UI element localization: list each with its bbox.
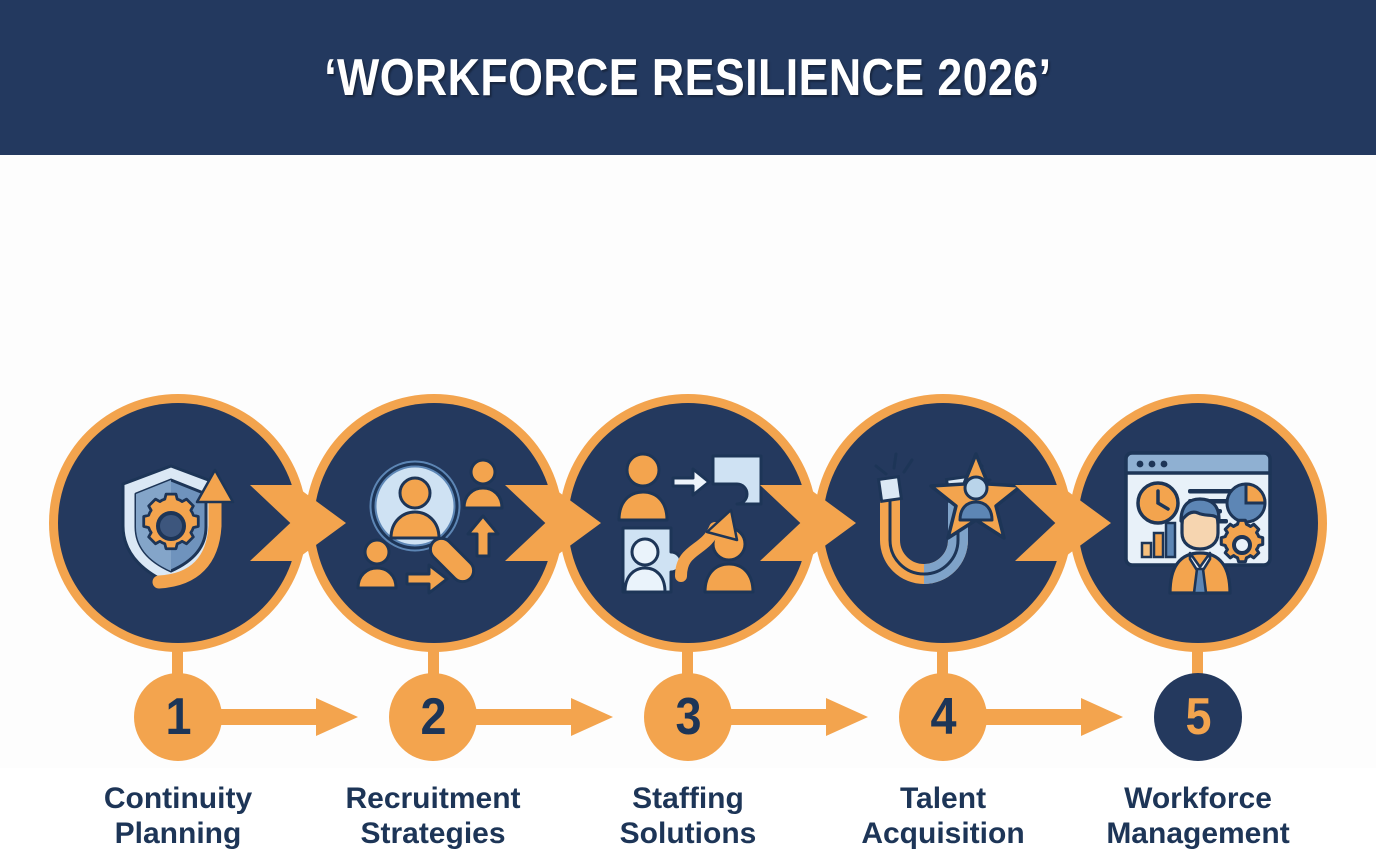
step-node-5[interactable] bbox=[1078, 403, 1318, 643]
arrow-shaft bbox=[206, 709, 326, 725]
step-number-badge-2[interactable]: 2 bbox=[389, 673, 477, 761]
step-number-1: 1 bbox=[165, 691, 191, 743]
arrow-shaft bbox=[716, 709, 836, 725]
step-number-5: 5 bbox=[1185, 691, 1211, 743]
step-number-3: 3 bbox=[675, 691, 701, 743]
number-arrow-4-5 bbox=[971, 698, 1123, 736]
dashboard-analytics-person-icon bbox=[1078, 403, 1318, 643]
number-arrow-3-4 bbox=[716, 698, 868, 736]
arrow-head bbox=[316, 698, 358, 736]
arrow-head bbox=[826, 698, 868, 736]
page-title: ‘WORKFORCE RESILIENCE 2026’ bbox=[324, 48, 1051, 108]
process-flow: 1 2 3 4 5 Continuity Planning Recruitmen… bbox=[0, 155, 1376, 768]
infographic-page: ‘WORKFORCE RESILIENCE 2026’ bbox=[0, 0, 1376, 768]
arrow-head bbox=[1081, 698, 1123, 736]
step-label-5: Workforce Management bbox=[1048, 781, 1348, 851]
step-node-2[interactable] bbox=[314, 403, 554, 643]
puzzle-people-match-icon bbox=[568, 403, 808, 643]
magnet-star-person-icon bbox=[823, 403, 1063, 643]
number-arrow-2-3 bbox=[461, 698, 613, 736]
step-number-badge-5[interactable]: 5 bbox=[1154, 673, 1242, 761]
step-node-1[interactable] bbox=[58, 403, 298, 643]
arrow-shaft bbox=[461, 709, 581, 725]
step-label-5-line1: Workforce bbox=[1048, 781, 1348, 816]
step-label-5-line2: Management bbox=[1048, 816, 1348, 851]
arrow-head bbox=[571, 698, 613, 736]
step-number-badge-3[interactable]: 3 bbox=[644, 673, 732, 761]
number-arrow-1-2 bbox=[206, 698, 358, 736]
step-number-4: 4 bbox=[930, 691, 956, 743]
step-number-badge-1[interactable]: 1 bbox=[134, 673, 222, 761]
header-banner: ‘WORKFORCE RESILIENCE 2026’ bbox=[0, 0, 1376, 155]
arrow-shaft bbox=[971, 709, 1091, 725]
step-number-badge-4[interactable]: 4 bbox=[899, 673, 987, 761]
step-node-4[interactable] bbox=[823, 403, 1063, 643]
magnifier-person-search-icon bbox=[314, 403, 554, 643]
shield-gear-uparrow-icon bbox=[58, 403, 298, 643]
step-number-2: 2 bbox=[420, 691, 446, 743]
step-node-3[interactable] bbox=[568, 403, 808, 643]
